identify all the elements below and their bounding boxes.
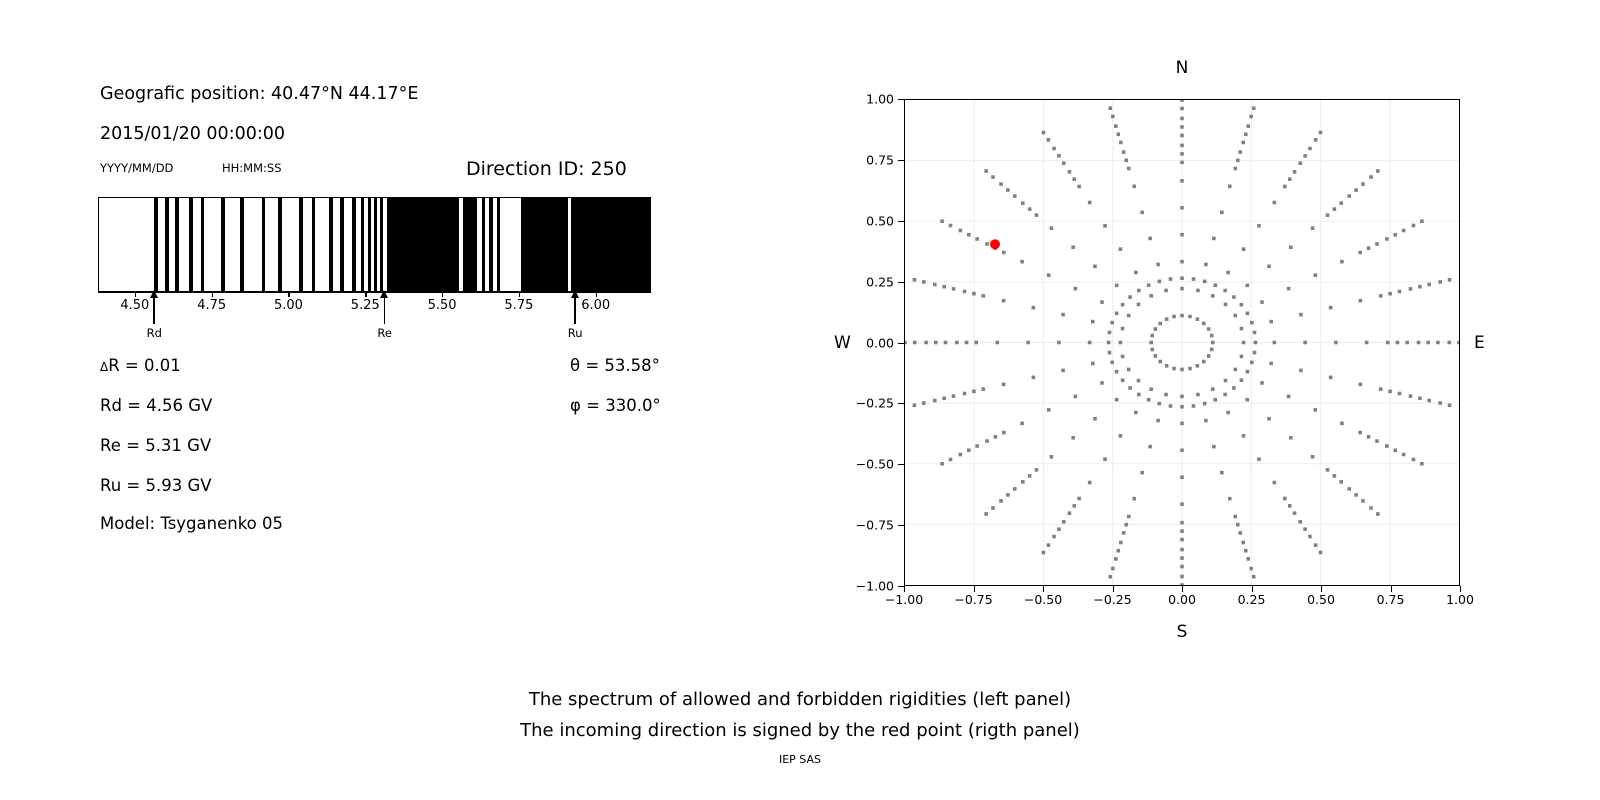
- x-axis-tick: [1321, 586, 1322, 592]
- direction-point: [1448, 341, 1452, 345]
- x-axis-tick: [1460, 586, 1461, 592]
- direction-point: [1180, 521, 1184, 525]
- x-axis-tick: [1391, 586, 1392, 592]
- axis-tick: [596, 292, 597, 297]
- forbidden-band: [165, 198, 169, 291]
- direction-point: [1108, 351, 1112, 355]
- theta-value: θ = 53.58°: [570, 356, 660, 375]
- direction-point: [1180, 565, 1184, 569]
- direction-point: [1260, 381, 1264, 385]
- direction-point: [1329, 306, 1333, 310]
- direction-point: [1339, 201, 1343, 205]
- direction-point: [1426, 341, 1430, 345]
- direction-point: [1028, 207, 1032, 211]
- direction-point: [1052, 147, 1056, 151]
- direction-point: [952, 287, 956, 291]
- direction-point: [1250, 361, 1254, 365]
- direction-point: [1057, 154, 1061, 158]
- direction-point: [959, 229, 963, 233]
- direction-point: [975, 444, 979, 448]
- direction-point: [1329, 376, 1333, 380]
- direction-point: [1420, 462, 1424, 466]
- direction-point: [1026, 341, 1030, 345]
- direction-point: [1245, 284, 1249, 288]
- direction-point: [1196, 317, 1200, 321]
- direction-point: [1241, 141, 1245, 145]
- direction-point: [981, 294, 985, 298]
- direction-point: [1232, 386, 1236, 390]
- arrow-head-icon: [571, 290, 579, 298]
- direction-point: [1314, 138, 1318, 142]
- direction-point: [967, 448, 971, 452]
- forbidden-band: [361, 198, 364, 291]
- caption-line-1: The spectrum of allowed and forbidden ri…: [0, 684, 1600, 715]
- y-axis-tick-label: −0.50: [856, 457, 894, 472]
- direction-point: [1299, 369, 1303, 373]
- direction-point: [1002, 383, 1006, 387]
- direction-point: [1226, 411, 1230, 415]
- direction-point: [1244, 132, 1248, 136]
- direction-point: [1158, 280, 1162, 284]
- x-axis-tick: [1252, 586, 1253, 592]
- direction-point: [1269, 320, 1273, 324]
- direction-point: [1358, 431, 1362, 435]
- direction-point: [1409, 394, 1413, 398]
- direction-point: [1071, 436, 1075, 440]
- direction-point: [949, 224, 953, 228]
- direction-point: [1127, 167, 1131, 171]
- direction-point: [1212, 445, 1216, 449]
- direction-point: [1457, 341, 1459, 345]
- direction-point: [1388, 292, 1392, 296]
- direction-point: [1128, 386, 1132, 390]
- direction-point: [1140, 471, 1144, 475]
- direction-point: [1226, 271, 1230, 275]
- y-axis-tick-label: 0.00: [866, 335, 894, 350]
- direction-point: [913, 278, 917, 282]
- direction-point: [1242, 341, 1246, 345]
- direction-point: [1180, 152, 1184, 156]
- direction-point: [952, 394, 956, 398]
- direction-point: [1246, 312, 1250, 316]
- direction-point: [1253, 331, 1257, 335]
- direction-point: [1068, 170, 1072, 174]
- direction-point: [940, 219, 944, 223]
- direction-point: [1257, 224, 1261, 228]
- direction-point: [1369, 175, 1373, 179]
- direction-point: [1180, 548, 1184, 552]
- direction-point: [1252, 575, 1256, 579]
- direction-point: [1223, 289, 1227, 293]
- direction-point: [1115, 312, 1119, 316]
- direction-point: [933, 283, 937, 287]
- forbidden-band: [489, 198, 493, 291]
- direction-point: [1119, 141, 1123, 145]
- forbidden-band: [201, 198, 204, 291]
- direction-point: [1436, 341, 1440, 345]
- direction-point: [1137, 303, 1141, 307]
- direction-point: [1180, 161, 1184, 165]
- direction-point: [1236, 523, 1240, 527]
- x-axis-tick: [904, 586, 905, 592]
- direction-point: [1127, 314, 1131, 318]
- direction-point: [1376, 169, 1380, 173]
- direction-point: [1180, 276, 1184, 280]
- forbidden-band: [175, 198, 179, 291]
- forbidden-band: [374, 198, 377, 291]
- direction-point: [1240, 355, 1244, 359]
- x-axis-tick-label: 1.00: [1446, 592, 1474, 607]
- x-axis-tick-label: 0.00: [1168, 592, 1196, 607]
- direction-point: [1013, 487, 1017, 491]
- direction-point: [1006, 493, 1010, 497]
- x-axis-tick-label: −1.00: [885, 592, 923, 607]
- axis-tick: [135, 292, 136, 297]
- direction-point: [963, 392, 967, 396]
- axis-tick: [365, 292, 366, 297]
- direction-point: [1110, 361, 1114, 365]
- direction-point: [959, 453, 963, 457]
- direction-point: [1020, 422, 1024, 426]
- direction-point: [1354, 188, 1358, 192]
- rigidity-spectrum-panel: Geografic position: 40.47°N 44.17°E 2015…: [0, 0, 760, 620]
- direction-point: [1050, 455, 1054, 459]
- direction-point: [1246, 557, 1250, 561]
- direction-point: [1211, 387, 1215, 391]
- direction-point: [1438, 401, 1442, 405]
- direction-point: [1211, 341, 1215, 345]
- direction-point: [1072, 177, 1076, 181]
- axis-tick-label: 5.25: [351, 298, 380, 313]
- direction-point: [1249, 567, 1253, 571]
- direction-point: [1386, 341, 1390, 345]
- direction-point: [1122, 531, 1126, 535]
- x-axis-tick-label: 0.75: [1377, 592, 1405, 607]
- direction-point: [1050, 226, 1054, 230]
- figure-caption: The spectrum of allowed and forbidden ri…: [0, 684, 1600, 746]
- direction-point: [922, 280, 926, 284]
- direction-point: [996, 341, 1000, 345]
- direction-point: [1202, 360, 1206, 364]
- direction-point: [1137, 379, 1141, 383]
- arrow-head-icon: [150, 290, 158, 298]
- forbidden-band: [278, 198, 282, 291]
- direction-point: [1242, 434, 1246, 438]
- x-axis-tick: [974, 586, 975, 592]
- direction-point: [1405, 341, 1409, 345]
- direction-point: [1172, 315, 1176, 319]
- direction-point: [1180, 529, 1184, 533]
- direction-point: [1088, 341, 1092, 345]
- direction-point: [1180, 502, 1184, 506]
- forbidden-band: [262, 198, 266, 291]
- rigidity-marker-label: Ru: [568, 326, 583, 340]
- direction-point: [1180, 405, 1184, 409]
- direction-point: [991, 506, 995, 510]
- direction-point: [1254, 341, 1258, 345]
- direction-point: [1047, 543, 1051, 547]
- axis-tick-label: 4.50: [120, 298, 149, 313]
- direction-point: [1180, 556, 1184, 560]
- direction-point: [1232, 295, 1236, 299]
- direction-point: [1115, 370, 1119, 374]
- direction-point: [1204, 419, 1208, 423]
- direction-point: [981, 387, 985, 391]
- forbidden-band: [368, 198, 371, 291]
- direction-point: [1253, 351, 1257, 355]
- direction-point: [975, 237, 979, 241]
- direction-point: [1211, 294, 1215, 298]
- direction-point: [1246, 370, 1250, 374]
- compass-west-label: W: [834, 333, 851, 353]
- direction-point: [933, 399, 937, 403]
- direction-point: [1091, 320, 1095, 324]
- direction-point: [1127, 368, 1131, 372]
- direction-point: [1013, 194, 1017, 198]
- direction-point: [1180, 287, 1184, 291]
- direction-point: [1134, 411, 1138, 415]
- forbidden-band: [340, 198, 344, 291]
- direction-point: [1293, 511, 1297, 515]
- direction-point: [1354, 493, 1358, 497]
- direction-point: [985, 439, 989, 443]
- direction-point: [1114, 557, 1118, 561]
- direction-point: [1188, 367, 1192, 371]
- direction-point: [1269, 362, 1273, 366]
- direction-point: [1137, 289, 1141, 293]
- x-axis-tick-label: −0.25: [1093, 592, 1131, 607]
- direction-point: [1111, 115, 1115, 119]
- re-value: Re = 5.31 GV: [100, 436, 211, 455]
- direction-point: [1093, 264, 1097, 268]
- direction-point: [1361, 182, 1365, 186]
- direction-point: [940, 462, 944, 466]
- direction-point: [1180, 448, 1184, 452]
- direction-point: [1132, 497, 1136, 501]
- axis-tick-label: 5.75: [504, 298, 533, 313]
- direction-point: [1148, 237, 1152, 241]
- direction-point: [1242, 247, 1246, 251]
- direction-point: [1047, 408, 1051, 412]
- direction-point: [1158, 360, 1162, 364]
- forbidden-band: [482, 198, 485, 291]
- rigidity-axis: 4.504.755.005.255.505.756.00RdReRu: [98, 292, 651, 352]
- direction-point: [1124, 159, 1128, 163]
- compass-east-label: E: [1474, 333, 1485, 353]
- direction-point: [1154, 327, 1158, 331]
- direction-point: [1109, 575, 1113, 579]
- direction-point: [1398, 290, 1402, 294]
- direction-point: [1047, 138, 1051, 142]
- direction-point: [1393, 233, 1397, 237]
- direction-point: [1214, 398, 1218, 402]
- forbidden-band: [380, 198, 383, 291]
- direction-point: [1238, 150, 1242, 154]
- direction-point: [1385, 237, 1389, 241]
- direction-point: [1438, 280, 1442, 284]
- direction-point: [1314, 543, 1318, 547]
- direction-point: [1077, 185, 1081, 189]
- direction-point: [972, 390, 976, 394]
- direction-point: [1207, 327, 1211, 331]
- direction-point: [1240, 327, 1244, 331]
- direction-point: [1057, 527, 1061, 531]
- direction-point: [1207, 354, 1211, 358]
- direction-point: [1149, 387, 1153, 391]
- direction-point: [1180, 206, 1184, 210]
- direction-point: [1333, 207, 1337, 211]
- forbidden-band: [352, 198, 355, 291]
- y-axis-tick: [898, 343, 904, 344]
- scatter-points: [905, 100, 1459, 585]
- direction-point: [1154, 354, 1158, 358]
- direction-point: [1093, 417, 1097, 421]
- direction-point: [924, 341, 928, 345]
- direction-point: [1028, 474, 1032, 478]
- direction-point: [1180, 144, 1184, 148]
- direction-point: [1150, 348, 1154, 352]
- direction-point: [1180, 538, 1184, 542]
- direction-point: [1427, 399, 1431, 403]
- direction-point: [1298, 161, 1302, 165]
- direction-point: [1169, 404, 1173, 408]
- direction-point: [1108, 331, 1112, 335]
- y-axis-tick: [898, 464, 904, 465]
- direction-point: [955, 341, 959, 345]
- direction-point: [972, 292, 976, 296]
- direction-point: [1240, 378, 1244, 382]
- direction-point: [1128, 295, 1132, 299]
- forbidden-band: [154, 198, 158, 291]
- direction-point: [1188, 315, 1192, 319]
- direction-point: [1061, 313, 1065, 317]
- direction-point: [1180, 314, 1184, 318]
- x-axis-tick: [1113, 586, 1114, 592]
- direction-map-panel: −1.00−0.75−0.50−0.250.000.250.500.751.00…: [760, 0, 1600, 660]
- axis-line: [98, 292, 651, 293]
- direction-point: [965, 341, 969, 345]
- direction-point: [1448, 278, 1452, 282]
- direction-point: [1319, 131, 1323, 135]
- direction-point: [1347, 487, 1351, 491]
- direction-point: [1165, 364, 1169, 368]
- direction-point: [1224, 379, 1228, 383]
- direction-point: [1210, 348, 1214, 352]
- direction-point: [1287, 395, 1291, 399]
- direction-point: [905, 341, 907, 345]
- arrow-head-icon: [380, 290, 388, 298]
- direction-point: [1196, 393, 1200, 397]
- direction-point: [1132, 185, 1136, 189]
- direction-point: [1311, 455, 1315, 459]
- direction-point: [1149, 294, 1153, 298]
- direction-point: [1319, 551, 1323, 555]
- direction-point: [1180, 575, 1184, 579]
- direction-point: [1313, 273, 1317, 277]
- direction-point: [1418, 285, 1422, 289]
- direction-point: [1359, 299, 1363, 303]
- direction-point: [994, 435, 998, 439]
- direction-point: [1379, 294, 1383, 298]
- direction-point: [934, 341, 938, 345]
- direction-point: [1308, 535, 1312, 539]
- direction-point: [1367, 246, 1371, 250]
- direction-point: [1115, 284, 1119, 288]
- direction-point: [1369, 506, 1373, 510]
- direction-point: [1042, 131, 1046, 135]
- axis-tick-label: 4.75: [197, 298, 226, 313]
- direction-point: [1260, 300, 1264, 304]
- delta-r-text: R = 0.01: [108, 356, 181, 375]
- direction-point: [1333, 474, 1337, 478]
- direction-point: [1288, 177, 1292, 181]
- direction-point: [1250, 321, 1254, 325]
- direction-point: [1074, 287, 1078, 291]
- axis-tick: [519, 292, 520, 297]
- axis-tick: [288, 292, 289, 297]
- axis-tick: [212, 292, 213, 297]
- direction-point: [1418, 396, 1422, 400]
- rigidity-marker-label: Rd: [147, 326, 162, 340]
- y-axis-tick-label: 0.75: [866, 152, 894, 167]
- forbidden-band: [387, 198, 460, 291]
- direction-point: [1427, 283, 1431, 287]
- direction-point: [1164, 393, 1168, 397]
- direction-point: [1180, 260, 1184, 264]
- direction-point: [1375, 242, 1379, 246]
- direction-point: [1077, 497, 1081, 501]
- direction-point: [984, 169, 988, 173]
- direction-point: [1032, 376, 1036, 380]
- y-axis-tick-label: 0.25: [866, 274, 894, 289]
- x-axis-tick: [1043, 586, 1044, 592]
- direction-point: [1212, 237, 1216, 241]
- direction-point: [942, 396, 946, 400]
- direction-point: [1289, 436, 1293, 440]
- forbidden-band: [312, 198, 316, 291]
- direction-point: [1293, 170, 1297, 174]
- direction-point: [1326, 468, 1330, 472]
- direction-point: [1313, 408, 1317, 412]
- forbidden-band: [221, 198, 225, 291]
- direction-point: [1121, 355, 1125, 359]
- direction-point: [1385, 444, 1389, 448]
- direction-point: [1062, 520, 1066, 524]
- direction-point: [1340, 260, 1344, 264]
- direction-point: [1283, 497, 1287, 501]
- direction-point: [999, 182, 1003, 186]
- direction-point: [1196, 364, 1200, 368]
- forbidden-band: [463, 198, 477, 291]
- delta-symbol: Δ: [100, 360, 108, 374]
- direction-point: [1287, 287, 1291, 291]
- direction-point: [922, 401, 926, 405]
- direction-point: [1180, 125, 1184, 129]
- direction-point: [967, 233, 971, 237]
- direction-point: [1420, 219, 1424, 223]
- direction-point: [1116, 549, 1120, 553]
- direction-point: [1347, 194, 1351, 198]
- direction-point: [1192, 277, 1196, 281]
- direction-point: [1021, 480, 1025, 484]
- direction-point: [1393, 448, 1397, 452]
- direction-point: [1273, 201, 1277, 205]
- direction-point: [1180, 107, 1184, 111]
- direction-point: [1214, 283, 1218, 287]
- direction-point: [1134, 271, 1138, 275]
- direction-point: [1361, 499, 1365, 503]
- date-format-hint: YYYY/MM/DD: [100, 161, 173, 175]
